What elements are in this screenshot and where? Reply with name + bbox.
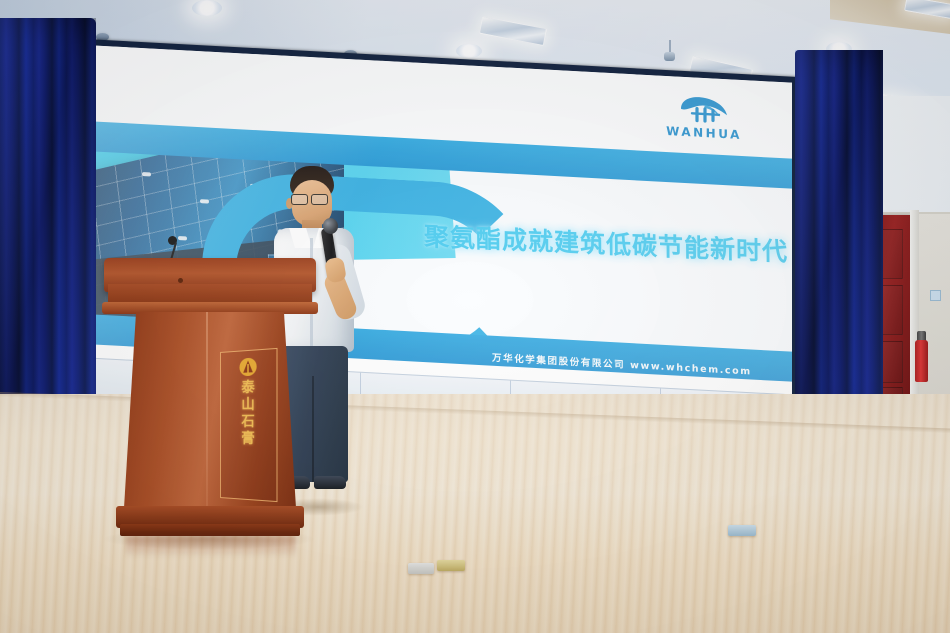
podium-base-plinth [120, 524, 300, 536]
conference-hall-photo: WANHUA 聚氨酯成就建筑低碳节能新时代 万华化学集团股份有限公司 www.w… [0, 0, 950, 633]
speaker-podium: 泰 山 石 膏 [110, 258, 310, 548]
blue-curtain-left [0, 18, 96, 442]
podium-brand-text-1: 泰 [221, 379, 277, 398]
speaker-shoe-right [314, 476, 346, 489]
floor-socket-blue [728, 525, 756, 536]
trouser-seam [312, 376, 314, 482]
fire-extinguisher [915, 340, 928, 382]
wall-sign [930, 290, 941, 301]
glasses-lens-left [291, 194, 308, 205]
ceiling-downlight [456, 44, 482, 58]
floor-socket-gold [437, 560, 465, 571]
podium-brand-plaque: 泰 山 石 膏 [220, 348, 277, 502]
blue-curtain-right [795, 50, 883, 422]
taishan-mountain-logo-icon [239, 357, 258, 376]
podium-knob [178, 278, 183, 283]
building-window-glint [142, 172, 151, 176]
wanhua-logo: WANHUA [658, 92, 750, 153]
wanhua-logo-text: WANHUA [658, 124, 750, 143]
podium-brand-text-2: 山 [221, 396, 277, 414]
podium-corner-edge [206, 312, 208, 508]
podium-brand-text-4: 膏 [221, 431, 277, 449]
curtain-sheen [0, 18, 96, 442]
building-window-glint [178, 236, 187, 240]
wanhua-logo-mark [675, 92, 733, 125]
curtain-sheen [795, 50, 883, 422]
building-window-glint [200, 199, 209, 203]
speaker-glasses [291, 194, 333, 203]
ceiling-hanger-head [664, 52, 675, 61]
podium-floor-reflection [126, 536, 296, 558]
ceiling-downlight [192, 0, 222, 16]
podium-brand-text-3: 石 [221, 414, 277, 432]
floor-socket-silver [408, 563, 434, 574]
glasses-lens-right [311, 194, 328, 205]
